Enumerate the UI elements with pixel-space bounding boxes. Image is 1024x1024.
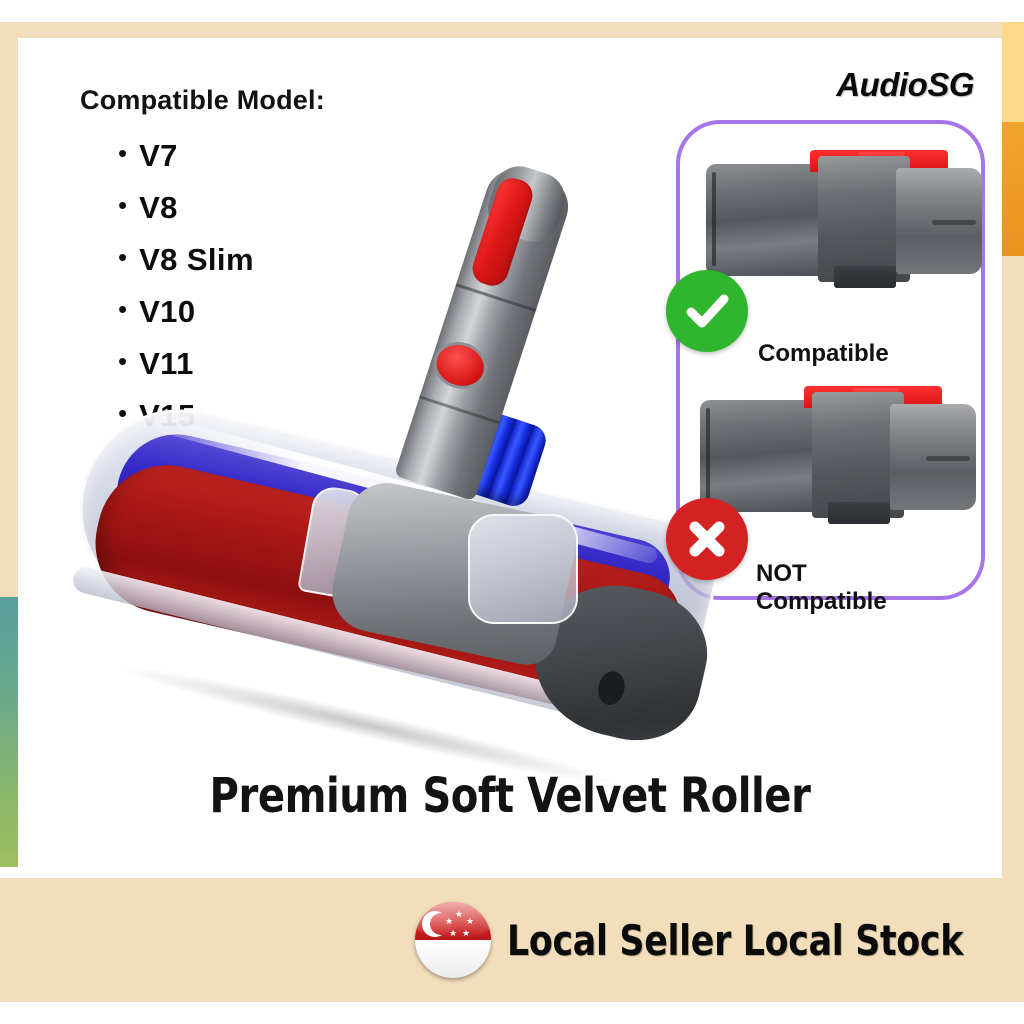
frame-bar-right-gradient — [1002, 122, 1024, 256]
flag-gloss-highlight — [415, 902, 491, 938]
brand-logo: AudioSG — [836, 66, 974, 104]
connector-latch — [834, 266, 896, 288]
product-photo-vacuum-roller-head — [38, 158, 738, 768]
connector-latch — [828, 502, 890, 524]
not-compatible-caption: NOT Compatible — [756, 560, 887, 615]
wand-neck-assembly — [371, 154, 597, 508]
singapore-flag-icon: ★ ★ ★ ★ ★ — [415, 902, 491, 978]
green-check-icon — [666, 270, 748, 352]
frame-bar-right-top — [1002, 22, 1024, 122]
connector-photo-not-compatible — [700, 386, 982, 528]
frame-bar-left-gradient — [0, 597, 18, 867]
product-title: Premium Soft Velvet Roller — [52, 768, 967, 824]
product-listing-image: AudioSG Compatible Model: • V7 • V8 • V8… — [0, 0, 1024, 1024]
local-seller-banner: ★ ★ ★ ★ ★ Local Seller Local Stock — [0, 878, 1024, 1002]
not-compatible-line2: Compatible — [756, 588, 887, 616]
frame-bar-right-lower — [1002, 256, 1024, 878]
connector-barrel — [700, 400, 830, 512]
content-card: AudioSG Compatible Model: • V7 • V8 • V8… — [18, 38, 1002, 878]
frame-bar-left-top — [0, 22, 18, 262]
not-compatible-line1: NOT — [756, 560, 887, 588]
frame-bar-top — [0, 22, 1024, 38]
compatible-row: Compatible — [680, 142, 981, 372]
connector-nose — [890, 404, 976, 510]
compatible-model-heading: Compatible Model: — [80, 85, 325, 116]
red-cross-icon — [666, 498, 748, 580]
frame-bar-left-middle — [0, 262, 18, 597]
local-seller-text: Local Seller Local Stock — [507, 916, 963, 965]
not-compatible-row: NOT Compatible — [680, 372, 981, 594]
connector-barrel — [706, 164, 836, 276]
swivel-clear-housing — [468, 514, 578, 624]
connector-nose — [896, 168, 982, 274]
flag-white-half — [415, 940, 491, 978]
connector-photo-compatible — [706, 150, 978, 300]
compatible-caption: Compatible — [758, 340, 889, 368]
